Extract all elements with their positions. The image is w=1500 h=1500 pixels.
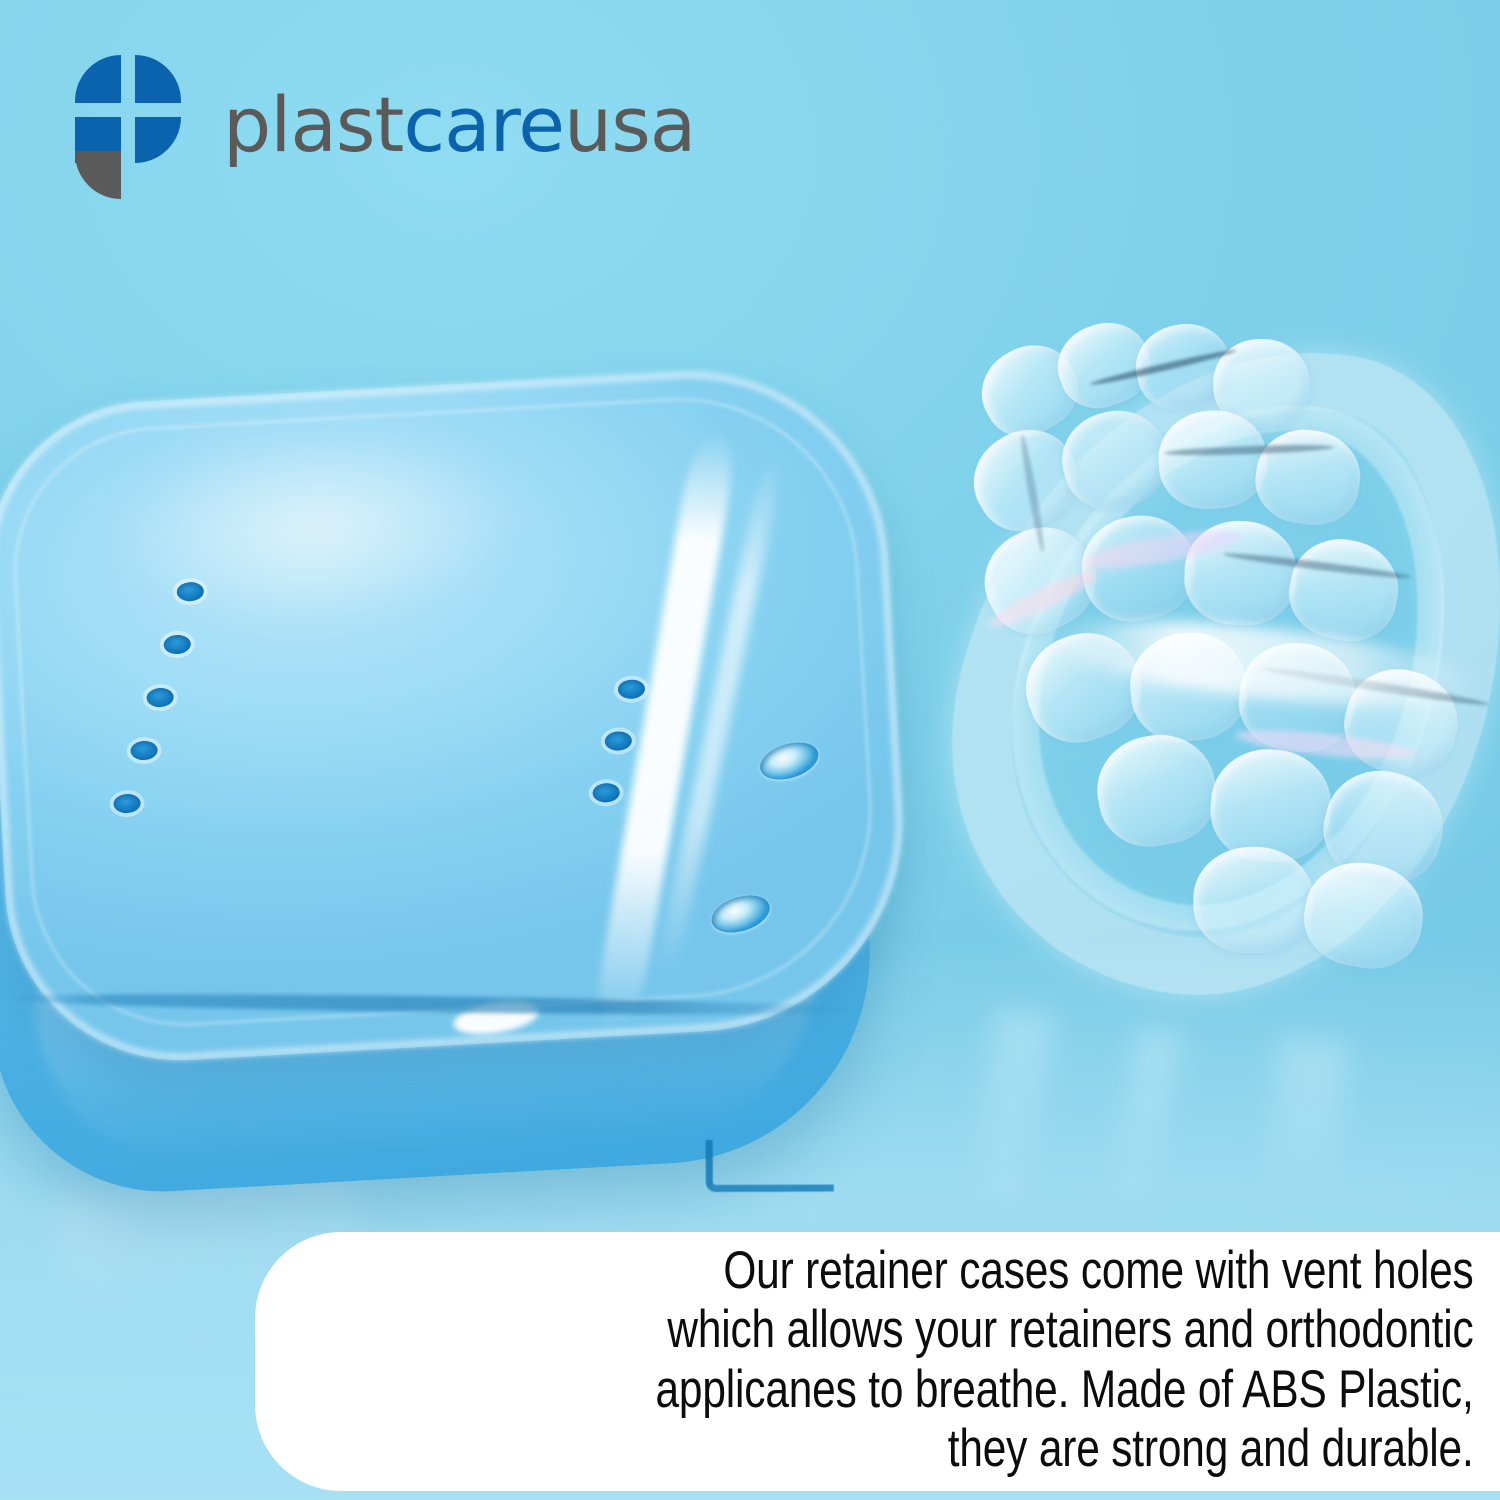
caption-panel: Our retainer cases come with vent holes … [255, 1232, 1500, 1491]
brand-word-care: care [403, 80, 564, 169]
product-marketing-image: plastcareusa [0, 0, 1500, 1500]
caption-text: Our retainer cases come with vent holes … [656, 1241, 1474, 1477]
brand-logo[interactable]: plastcareusa [75, 55, 695, 195]
floor-light-streak [1260, 1036, 1350, 1213]
blue-retainer-case [0, 357, 982, 1213]
medical-cross-logo-icon [75, 55, 187, 195]
clear-orthodontic-retainer [904, 280, 1500, 1080]
brand-word-usa: usa [564, 80, 695, 169]
case-lid-sheen [70, 419, 562, 675]
brand-wordmark: plastcareusa [223, 87, 695, 163]
brand-word-plast: plast [223, 80, 403, 169]
aligner-tooth [1193, 847, 1313, 953]
case-lid [0, 361, 914, 1070]
case-latch-tongue [706, 1140, 834, 1192]
